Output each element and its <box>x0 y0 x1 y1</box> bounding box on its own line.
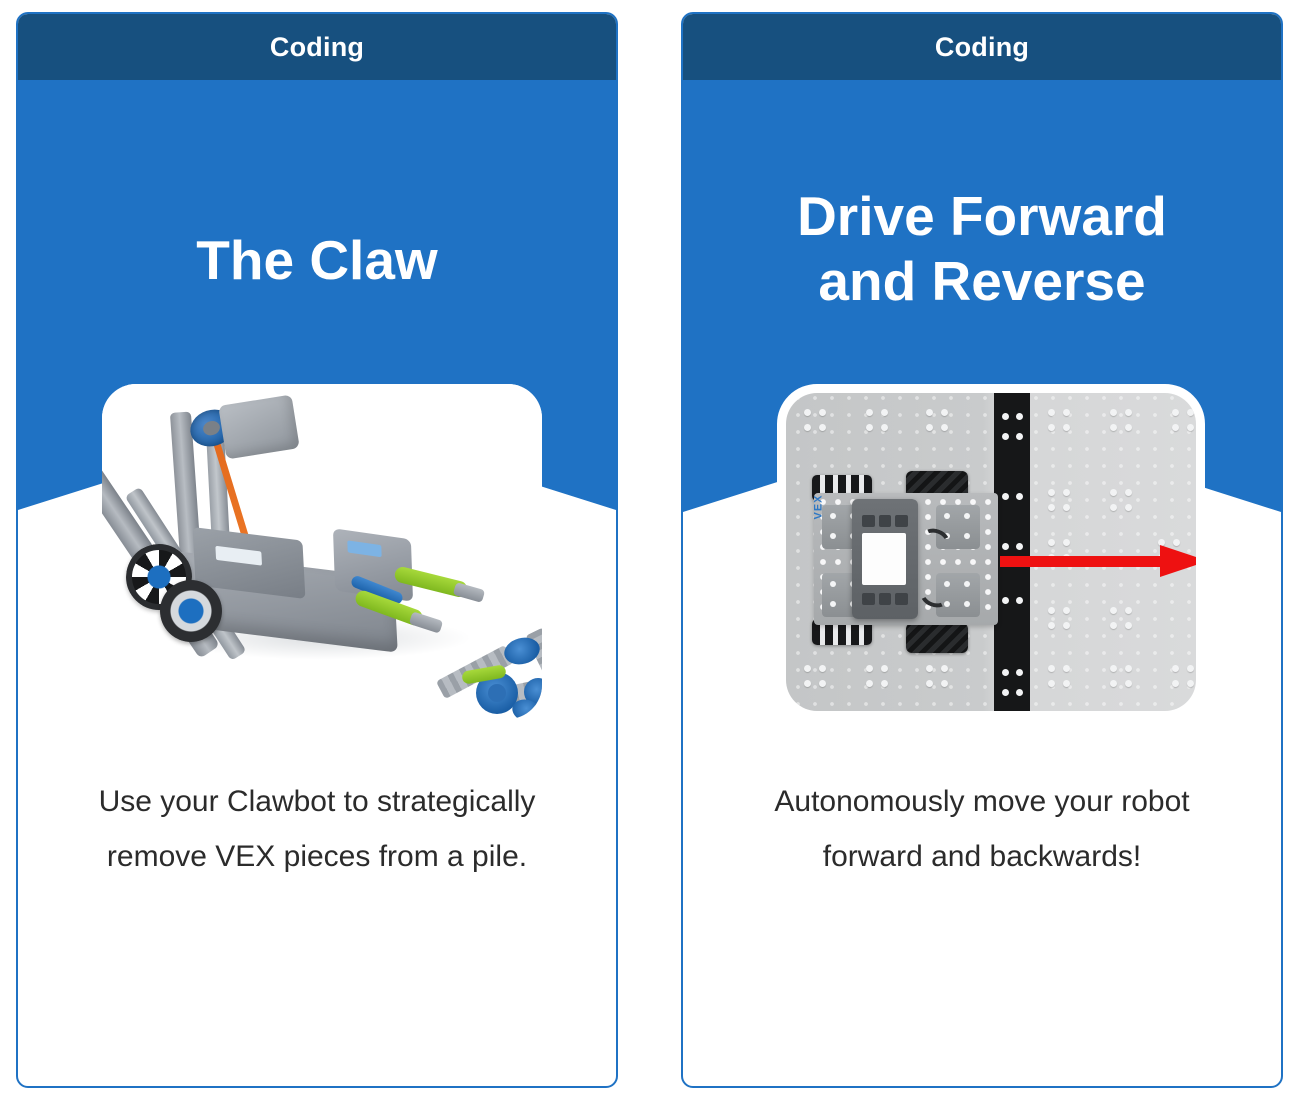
tile-hole-group <box>1172 409 1198 435</box>
drive-tire-rear-right <box>906 623 968 653</box>
tile-hole-group <box>1048 489 1074 515</box>
tile-hole-group <box>866 665 892 691</box>
card-title-line-1: Drive Forward <box>797 185 1167 247</box>
cards-stage: Coding The Claw <box>0 0 1316 1118</box>
card-category-header: Coding <box>683 14 1281 80</box>
card-title: Drive Forward and Reverse <box>683 184 1281 314</box>
field-tile: VEX <box>786 393 1196 711</box>
claw-tip-upper <box>453 582 485 603</box>
card-title-line-2: and Reverse <box>818 250 1145 312</box>
tile-hole-group <box>804 665 830 691</box>
card-description: Use your Clawbot to strategically remove… <box>58 774 576 884</box>
vex-iq-robot-topdown: VEX <box>808 455 1020 665</box>
direction-arrow-icon <box>1000 545 1205 577</box>
tile-hole-group <box>1172 665 1198 691</box>
tile-hole-group <box>1110 665 1136 691</box>
tile-hole-group <box>1048 409 1074 435</box>
card-description: Autonomously move your robot forward and… <box>723 774 1241 884</box>
tile-hole-group <box>1048 665 1074 691</box>
vex-parts-pile <box>432 632 542 719</box>
card-image-clawbot <box>102 384 542 719</box>
tile-hole-group <box>1110 409 1136 435</box>
brain-screen <box>862 533 906 585</box>
card-image-field-topdown: VEX <box>777 384 1205 720</box>
clawbot-illustration <box>102 384 542 719</box>
arrow-shaft <box>1000 556 1166 567</box>
activity-card-the-claw[interactable]: Coding The Claw <box>16 12 618 1088</box>
card-category-label: Coding <box>935 34 1029 61</box>
rear-wheel <box>160 580 222 642</box>
activity-card-drive-forward-and-reverse[interactable]: Coding Drive Forward and Reverse <box>681 12 1283 1088</box>
card-category-label: Coding <box>270 34 364 61</box>
tile-hole-group <box>804 409 830 435</box>
vex-iq-brain <box>852 499 918 619</box>
tile-hole-group <box>1110 607 1136 633</box>
arrow-head <box>1160 545 1205 577</box>
brain-button-row-bottom[interactable] <box>862 593 908 605</box>
tile-hole-group <box>1048 607 1074 633</box>
tile-hole-group <box>866 409 892 435</box>
tile-hole-group <box>1110 489 1136 515</box>
tile-hole-group <box>926 409 952 435</box>
card-title: The Claw <box>18 228 616 293</box>
vex-brand-label: VEX <box>813 494 825 519</box>
tile-hole-group <box>926 665 952 691</box>
arm-motor <box>218 395 300 460</box>
card-category-header: Coding <box>18 14 616 80</box>
brain-button-row-top[interactable] <box>862 515 908 527</box>
